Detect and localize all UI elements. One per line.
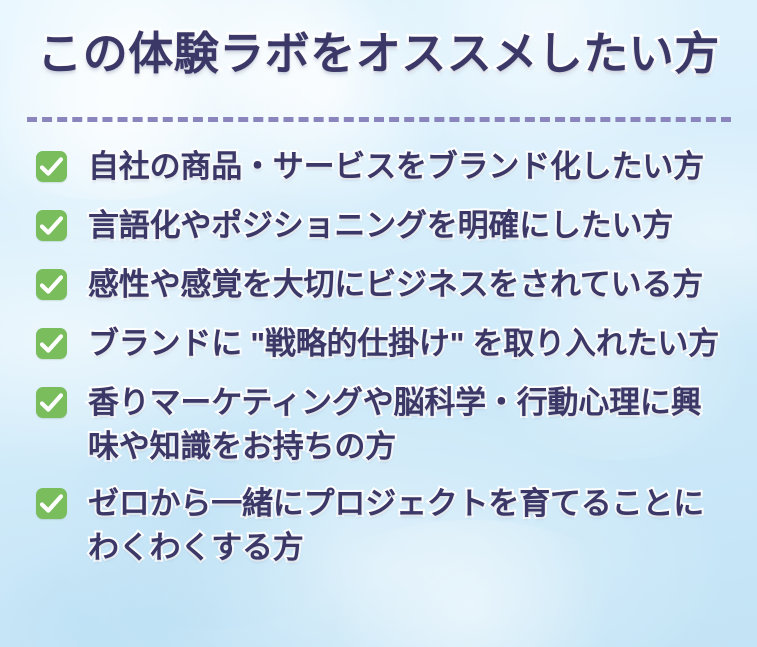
list-item-text: ゼロから一緒にプロジェクトを育てることに わくわくする方 (88, 481, 704, 570)
list-item-line: 感性や感覚を大切にビジネスをされている方 (88, 262, 703, 307)
list-item-text: 感性や感覚を大切にビジネスをされている方 (88, 262, 703, 307)
checkbox-checked-icon (36, 328, 67, 359)
list-item: 自社の商品・サービスをブランド化したい方 (36, 144, 746, 189)
list-item: 言語化やポジショニングを明確にしたい方 (36, 203, 746, 248)
list-item: 感性や感覚を大切にビジネスをされている方 (36, 262, 746, 307)
list-item: ゼロから一緒にプロジェクトを育てることに わくわくする方 (36, 481, 746, 570)
list-item-text: 自社の商品・サービスをブランド化したい方 (88, 144, 704, 189)
page-title: この体験ラボをオススメしたい方 (0, 26, 757, 82)
list-item-line: わくわくする方 (88, 525, 704, 570)
recommendation-list: 自社の商品・サービスをブランド化したい方 言語化やポジショニングを明確にしたい方 (36, 144, 746, 582)
checkbox-checked-icon (36, 269, 67, 300)
list-item-text: 言語化やポジショニングを明確にしたい方 (88, 203, 673, 248)
list-item-text: 香りマーケティングや脳科学・行動心理に興 味や知識をお持ちの方 (88, 380, 702, 469)
list-item-line: ブランドに "戦略的仕掛け" を取り入れたい方 (88, 321, 719, 366)
checkbox-checked-icon (36, 210, 67, 241)
dashed-divider (27, 117, 731, 122)
list-item-line: 味や知識をお持ちの方 (88, 424, 702, 469)
list-item-line: 言語化やポジショニングを明確にしたい方 (88, 203, 673, 248)
recommendation-poster: この体験ラボをオススメしたい方 自社の商品・サービスをブランド化したい方 言語化… (0, 0, 757, 647)
list-item-line: 香りマーケティングや脳科学・行動心理に興 (88, 380, 702, 425)
checkbox-checked-icon (36, 151, 67, 182)
list-item-line: ゼロから一緒にプロジェクトを育てることに (88, 481, 704, 526)
list-item-line: 自社の商品・サービスをブランド化したい方 (88, 144, 704, 189)
checkbox-checked-icon (36, 387, 67, 418)
list-item: ブランドに "戦略的仕掛け" を取り入れたい方 (36, 321, 746, 366)
checkbox-checked-icon (36, 488, 67, 519)
list-item: 香りマーケティングや脳科学・行動心理に興 味や知識をお持ちの方 (36, 380, 746, 469)
list-item-text: ブランドに "戦略的仕掛け" を取り入れたい方 (88, 321, 719, 366)
